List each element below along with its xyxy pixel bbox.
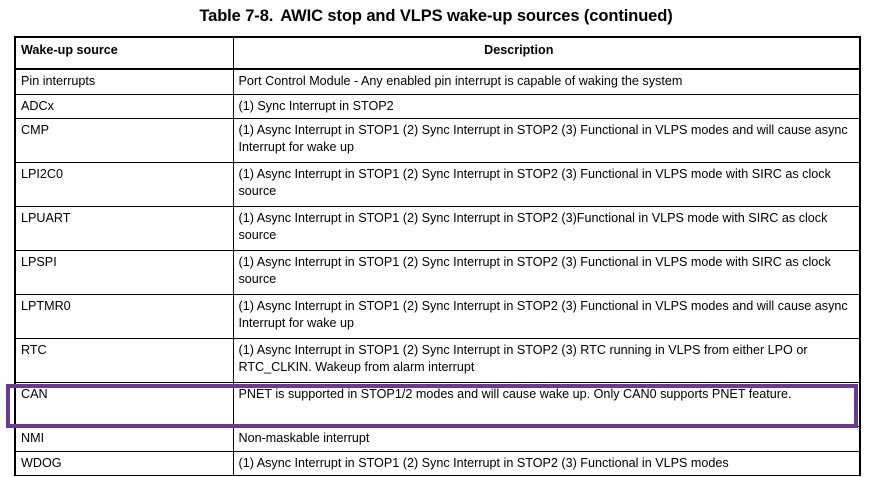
table-row: LPI2C0 (1) Async Interrupt in STOP1 (2) …	[15, 163, 860, 207]
table-row: NMI Non-maskable interrupt	[15, 427, 860, 452]
wakeup-sources-table-container: Wake-up source Description Pin interrupt…	[14, 36, 859, 476]
cell-wakeup-source: LPSPI	[15, 251, 233, 295]
cell-wakeup-source: RTC	[15, 339, 233, 383]
table-caption: Table 7-8.AWIC stop and VLPS wake-up sou…	[0, 7, 872, 26]
column-header-wakeup-source: Wake-up source	[15, 37, 233, 69]
cell-description: (1) Async Interrupt in STOP1 (2) Sync In…	[233, 451, 860, 476]
table-caption-number: Table 7-8.	[199, 7, 273, 25]
cell-description: (1) Sync Interrupt in STOP2	[233, 94, 860, 119]
column-header-description: Description	[233, 37, 860, 69]
cell-wakeup-source: LPTMR0	[15, 295, 233, 339]
table-row: LPUART (1) Async Interrupt in STOP1 (2) …	[15, 207, 860, 251]
cell-wakeup-source: LPI2C0	[15, 163, 233, 207]
document-page: Table 7-8.AWIC stop and VLPS wake-up sou…	[0, 0, 872, 477]
table-row-highlighted: CAN PNET is supported in STOP1/2 modes a…	[15, 383, 860, 427]
table-row: Pin interrupts Port Control Module - Any…	[15, 69, 860, 94]
cell-description: (1) Async Interrupt in STOP1 (2) Sync In…	[233, 339, 860, 383]
wakeup-sources-table: Wake-up source Description Pin interrupt…	[14, 36, 861, 476]
cell-description: Port Control Module - Any enabled pin in…	[233, 69, 860, 94]
table-header: Wake-up source Description	[15, 37, 860, 69]
cell-description: (1) Async Interrupt in STOP1 (2) Sync In…	[233, 119, 860, 163]
cell-wakeup-source: CAN	[15, 383, 233, 427]
cell-description: PNET is supported in STOP1/2 modes and w…	[233, 383, 860, 427]
table-body: Pin interrupts Port Control Module - Any…	[15, 69, 860, 476]
table-row: LPSPI (1) Async Interrupt in STOP1 (2) S…	[15, 251, 860, 295]
cell-description: (1) Async Interrupt in STOP1 (2) Sync In…	[233, 251, 860, 295]
cell-wakeup-source: CMP	[15, 119, 233, 163]
cell-wakeup-source: WDOG	[15, 451, 233, 476]
table-row: CMP (1) Async Interrupt in STOP1 (2) Syn…	[15, 119, 860, 163]
cell-wakeup-source: NMI	[15, 427, 233, 452]
table-caption-text: AWIC stop and VLPS wake-up sources (cont…	[280, 7, 672, 25]
table-row: WDOG (1) Async Interrupt in STOP1 (2) Sy…	[15, 451, 860, 476]
table-row: ADCx (1) Sync Interrupt in STOP2	[15, 94, 860, 119]
table-header-row: Wake-up source Description	[15, 37, 860, 69]
cell-description: (1) Async Interrupt in STOP1 (2) Sync In…	[233, 295, 860, 339]
cell-wakeup-source: LPUART	[15, 207, 233, 251]
cell-description: (1) Async Interrupt in STOP1 (2) Sync In…	[233, 207, 860, 251]
cell-wakeup-source: Pin interrupts	[15, 69, 233, 94]
table-row: RTC (1) Async Interrupt in STOP1 (2) Syn…	[15, 339, 860, 383]
cell-description: Non-maskable interrupt	[233, 427, 860, 452]
cell-wakeup-source: ADCx	[15, 94, 233, 119]
cell-description: (1) Async Interrupt in STOP1 (2) Sync In…	[233, 163, 860, 207]
table-row: LPTMR0 (1) Async Interrupt in STOP1 (2) …	[15, 295, 860, 339]
